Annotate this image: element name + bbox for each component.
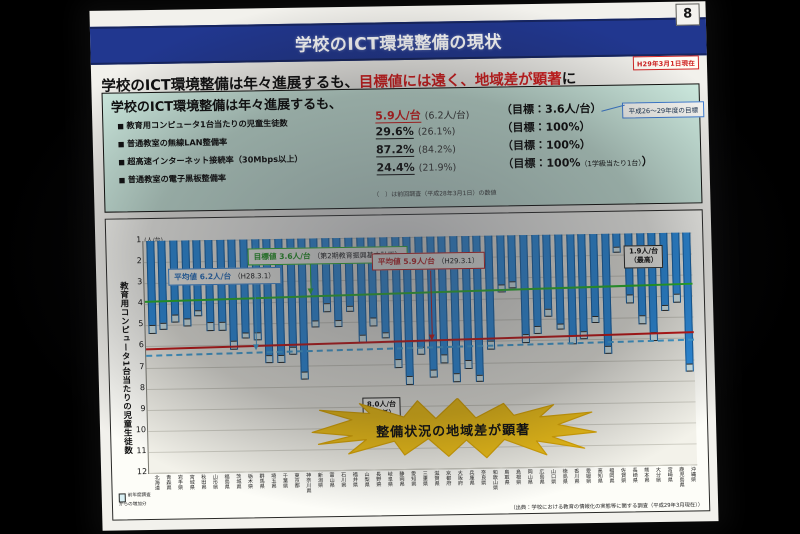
- annotation-avg-previous: 平均値 6.2人/台 （H28.3.1）: [168, 267, 281, 286]
- summary-lead: 学校のICT環境整備は年々進展するも、: [111, 93, 342, 116]
- bar: [484, 236, 495, 350]
- y-axis-tick: 6: [132, 341, 144, 350]
- bar-increment-segment: [336, 320, 342, 326]
- bar-increment-segment: [383, 332, 389, 338]
- summary-goal-note: （1学級当たり1台）: [580, 159, 642, 168]
- bar-increment-segment: [605, 346, 611, 355]
- summary-goal-main: （目標：3.6人/台）: [501, 102, 602, 117]
- x-axis-label: 神奈川県: [301, 472, 311, 493]
- bar: [228, 240, 239, 350]
- bar-increment-segment: [195, 310, 201, 316]
- x-axis-label: 福井県: [348, 472, 357, 487]
- x-axis-label: 新潟県: [313, 472, 322, 487]
- legend-swatch-increment: [119, 493, 126, 502]
- y-axis-tick: 12: [135, 467, 147, 476]
- page-number: 8: [675, 3, 700, 25]
- bar-increment-segment: [477, 375, 483, 381]
- y-axis-tick: 3: [130, 277, 142, 286]
- bar: [612, 234, 620, 253]
- x-axis-label: 福岡県: [604, 468, 613, 483]
- bar-increment-segment: [534, 326, 540, 335]
- summary-goal-main: （目標：100%）: [501, 120, 590, 134]
- summary-value-current: 87.2%: [376, 143, 415, 158]
- x-axis-label: 沖縄県: [686, 466, 695, 481]
- bar-increment-segment: [243, 332, 249, 338]
- bar: [682, 232, 694, 371]
- callout-starburst: 整備状況の地域差が顕著: [307, 396, 599, 463]
- bar-increment-segment: [557, 323, 563, 329]
- bar-increment-segment: [639, 315, 645, 324]
- bar-increment-segment: [673, 294, 679, 303]
- summary-bullet-goal: （目標：100%（1学級当たり1台））: [502, 153, 653, 171]
- x-axis-label: 鳥取県: [499, 469, 508, 484]
- bar-increment-segment: [324, 304, 330, 313]
- x-axis-label: 秋田県: [196, 474, 205, 489]
- bar: [671, 233, 681, 303]
- summary-footnote: （ ）は前回調査（平成28年3月1日）の数値: [373, 188, 496, 199]
- annotation-avg-prev-value: 6.2人/台: [200, 272, 232, 281]
- x-axis-label: 長野県: [371, 471, 380, 486]
- bar-increment-segment: [149, 325, 155, 334]
- bar: [554, 235, 564, 330]
- summary-bullet-goal: （目標：100%）: [501, 118, 590, 135]
- x-axis-label: 東京都: [289, 473, 298, 488]
- y-axis-tick: 8: [133, 383, 145, 392]
- x-axis-label: 滋賀県: [429, 470, 438, 485]
- x-axis-label: 愛媛県: [581, 468, 590, 483]
- summary-bullet-goal: （目標：100%）: [502, 136, 591, 153]
- bar-increment-segment: [371, 318, 377, 327]
- bar-increment-segment: [219, 322, 225, 331]
- x-axis-label: 岩手県: [173, 475, 182, 490]
- bar-increment-segment: [687, 363, 693, 372]
- x-axis-label: 北海道: [150, 475, 159, 490]
- summary-goal-main: （目標：100%: [502, 156, 580, 170]
- summary-value-current: 5.9人/台: [375, 109, 421, 124]
- y-axis-tick: 2: [130, 256, 142, 265]
- x-axis-label: 石川県: [336, 472, 345, 487]
- y-axis-tick: 5: [131, 319, 143, 328]
- x-axis-label: 富山県: [324, 472, 333, 487]
- plot-area: 123456789101112 目標値 3.6人/台 （第2期教育振興基本計画）…: [142, 232, 697, 474]
- chart-legend: 前年度調査からの増加分: [119, 493, 153, 508]
- projected-slide: 8 学校のICT環境整備の現状 H29年3月1日現在 学校のICT環境整備は年々…: [89, 1, 718, 531]
- bar-increment-segment: [510, 282, 516, 288]
- bar-increment-segment: [278, 355, 284, 364]
- bar: [496, 235, 505, 292]
- bar-increment-segment: [161, 323, 167, 329]
- summary-value-previous: (21.9%): [419, 162, 457, 174]
- x-axis-label: 鹿児島県: [674, 467, 684, 488]
- bar-increment-segment: [627, 295, 633, 304]
- slide-canvas: 8 学校のICT環境整備の現状 H29年3月1日現在 学校のICT環境整備は年々…: [89, 1, 718, 531]
- summary-value-current: 29.6%: [375, 125, 414, 140]
- x-axis-label: 京都府: [441, 470, 450, 485]
- summary-bullet-value: 87.2%(84.2%): [376, 142, 456, 156]
- y-axis-tick: 11: [134, 446, 146, 455]
- x-axis-label: 奈良県: [476, 470, 485, 485]
- slide-title-band: 学校のICT環境整備の現状: [90, 17, 707, 65]
- bar: [589, 234, 599, 323]
- bar-increment-segment: [184, 318, 190, 327]
- bar: [158, 241, 168, 330]
- bar-increment-segment: [395, 359, 401, 368]
- annotation-target-value: 3.6人/台: [279, 252, 311, 261]
- x-axis-label: 熊本県: [639, 467, 648, 482]
- x-axis-label: 島根県: [511, 469, 520, 484]
- x-axis-label: 千葉県: [278, 473, 287, 488]
- summary-bullet-value: 24.4%(21.9%): [376, 160, 456, 174]
- slide-title: 学校のICT環境整備の現状: [90, 24, 707, 59]
- bar-increment-segment: [465, 360, 471, 369]
- summary-value-previous: (6.2人/台): [425, 110, 470, 122]
- y-axis-tick: 9: [133, 404, 145, 413]
- summary-bullet-value: 5.9人/台(6.2人/台): [375, 106, 470, 123]
- x-axis-label: 栃木県: [243, 473, 252, 488]
- x-axis-label: 佐賀県: [616, 468, 625, 483]
- annotation-avg-now-label: 平均値: [378, 257, 401, 266]
- x-axis-label: 香川県: [569, 468, 578, 483]
- x-axis-label: 山口県: [546, 469, 555, 484]
- bar: [508, 235, 517, 288]
- x-axis-label: 岐阜県: [383, 471, 392, 486]
- x-axis-label: 福島県: [219, 474, 228, 489]
- x-axis-label: 広島県: [534, 469, 543, 484]
- summary-panel: 学校のICT環境整備は年々進展するも、教育用コンピュータ1台当たりの児童生徒数5…: [102, 83, 703, 212]
- summary-bullet-label: 普通教室の電子黒板整備率: [119, 172, 227, 186]
- bar-increment-segment: [207, 322, 213, 331]
- summary-value-previous: (84.2%): [418, 144, 456, 156]
- x-axis-label: 長崎県: [628, 467, 637, 482]
- y-axis-tick: 4: [131, 298, 143, 307]
- annotation-target-label: 目標値: [254, 252, 277, 261]
- x-axis-label: 和歌山県: [488, 470, 498, 491]
- bar-increment-segment: [454, 373, 460, 382]
- annotation-max-value: 1.9人/台 （最高）: [624, 245, 664, 269]
- summary-goal-paren: ）: [642, 155, 653, 168]
- bar-increment-segment: [592, 316, 598, 322]
- callout-target-years-label: 平成26〜29年度の目標: [629, 106, 699, 115]
- x-axis-label: 大分県: [651, 467, 660, 482]
- x-axis-label: 宮城県: [185, 474, 194, 489]
- summary-bullet-label: 教育用コンピュータ1台当たりの児童生徒数: [117, 117, 288, 132]
- x-axis-label: 徳島県: [558, 468, 567, 483]
- annotation-avg-prev-note: （H28.3.1）: [234, 272, 276, 281]
- date-badge: H29年3月1日現在: [633, 55, 699, 70]
- bar-increment-segment: [545, 309, 551, 318]
- x-axis-label: 山梨県: [359, 472, 368, 487]
- summary-goal-main: （目標：100%）: [502, 138, 591, 152]
- x-axis-label: 大阪府: [453, 470, 462, 485]
- summary-value-current: 24.4%: [376, 161, 415, 176]
- annotation-max-note: （最高）: [629, 256, 658, 265]
- bar-increment-segment: [662, 305, 668, 311]
- bar: [566, 234, 577, 344]
- annotation-avg-now-value: 5.9人/台: [403, 256, 435, 265]
- x-axis-label: 愛知県: [406, 471, 415, 486]
- annotation-avg-prev-label: 平均値: [174, 273, 197, 282]
- summary-bullet-goal: （目標：3.6人/台）: [501, 100, 602, 118]
- bar-increment-segment: [267, 355, 273, 364]
- bar-increment-segment: [312, 321, 318, 327]
- annotation-avg-current: 平均値 5.9人/台 （H29.3.1）: [372, 252, 485, 271]
- bar-increment-segment: [430, 369, 436, 378]
- y-axis-tick: 1: [129, 235, 141, 244]
- bar-increment-segment: [347, 305, 353, 311]
- summary-bullet-label: 超高速インターネット接続率（30Mbps以上）: [118, 153, 303, 168]
- summary-bullet-label: 普通教室の無線LAN整備率: [118, 136, 228, 150]
- bar-increment-segment: [172, 314, 178, 323]
- x-axis-label: 埼玉県: [266, 473, 275, 488]
- annotation-avg-now-note: （H29.3.1）: [437, 257, 479, 266]
- bar-increment-segment: [614, 246, 620, 252]
- summary-bullet-value: 29.6%(26.1%): [375, 124, 455, 138]
- bar: [624, 233, 634, 303]
- chart-panel: 教育用コンピュータ1台当たりの児童生徒数 (人/台) 1234567891011…: [105, 209, 711, 520]
- projection-room: 8 学校のICT環境整備の現状 H29年3月1日現在 学校のICT環境整備は年々…: [0, 0, 800, 534]
- x-axis-label: 群馬県: [254, 473, 263, 488]
- x-axis-label: 宮崎県: [663, 467, 672, 482]
- chart-source-note: （出典：学校における教育の情報化の実態等に関する調査（平成29年3月現在））: [510, 500, 703, 511]
- x-axis-label: 茨城県: [231, 474, 240, 489]
- x-axis-label: 高知県: [593, 468, 602, 483]
- bar-increment-segment: [407, 376, 413, 385]
- callout-target-years: 平成26〜29年度の目標: [622, 101, 704, 118]
- x-axis-label: 静岡県: [394, 471, 403, 486]
- bar: [531, 235, 542, 334]
- bar: [146, 241, 156, 334]
- bar-increment-segment: [302, 371, 308, 380]
- summary-value-previous: (26.1%): [418, 126, 456, 138]
- x-axis-label: 山形県: [208, 474, 217, 489]
- x-axis-label: 岡山県: [523, 469, 532, 484]
- x-axis-label: 三重県: [418, 471, 427, 486]
- x-axis-label: 青森県: [161, 475, 170, 490]
- y-axis-tick: 7: [132, 362, 144, 371]
- summary-lead-text: 学校のICT環境整備は年々進展するも、: [111, 97, 342, 116]
- y-axis-tick: 10: [134, 425, 146, 434]
- bar: [543, 235, 553, 317]
- bar-increment-segment: [442, 354, 448, 363]
- x-axis-label: 兵庫県: [464, 470, 473, 485]
